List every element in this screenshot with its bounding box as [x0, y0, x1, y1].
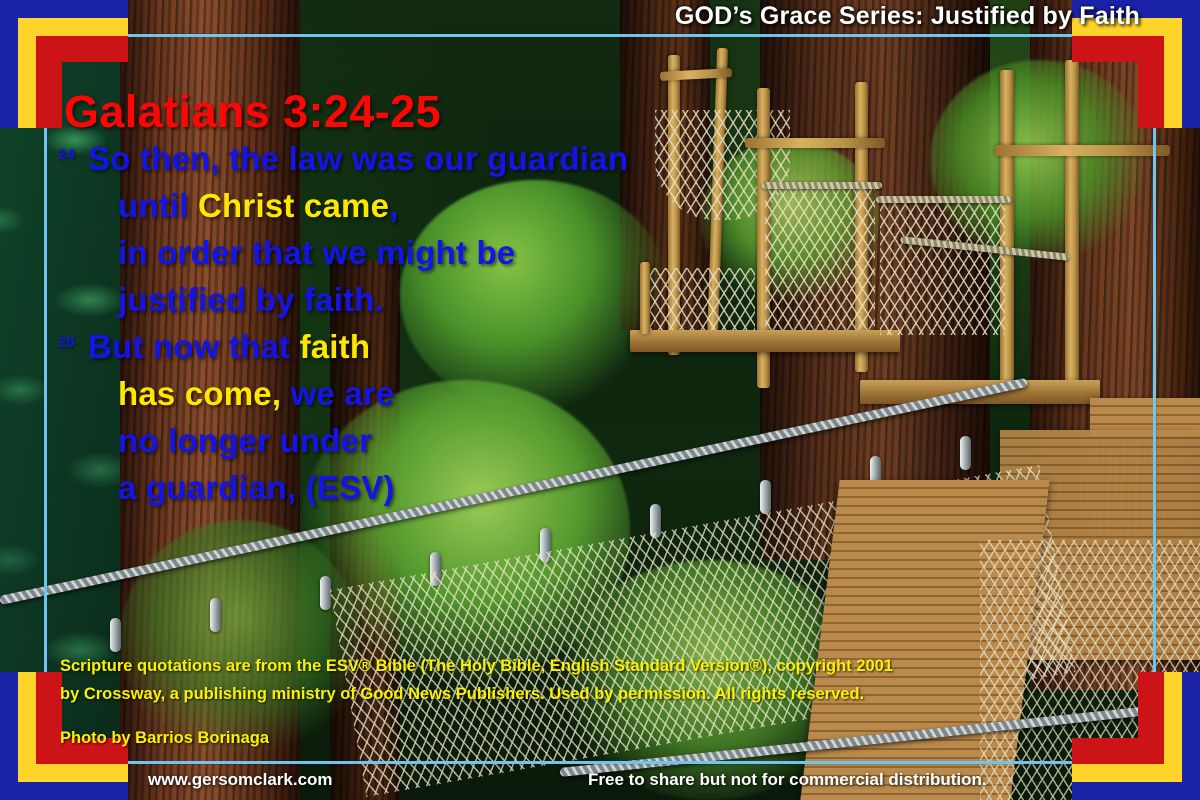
- verse-plain-text: But now that: [88, 328, 300, 365]
- footer-license: Free to share but not for commercial dis…: [588, 770, 987, 790]
- verse-plain-text: in order that we might be: [118, 234, 515, 271]
- verse-text: until Christ came,: [88, 187, 399, 225]
- verse-highlight-text: has come,: [118, 375, 281, 412]
- verse-plain-text: So then, the law was our guardian: [88, 140, 628, 177]
- verse-number-marker: 25: [58, 328, 88, 351]
- verse-plain-text: we are: [281, 375, 394, 412]
- verse-text: no longer under: [88, 422, 372, 460]
- verse-plain-text: no longer under: [118, 422, 372, 459]
- verse-text: But now that faith: [88, 328, 370, 366]
- cable-clip: [960, 436, 971, 470]
- credit-line-1: Scripture quotations are from the ESV® B…: [60, 657, 893, 675]
- verse-number-marker: [58, 234, 88, 240]
- verse-number-marker: [58, 281, 88, 287]
- verse-highlight-text: faith: [300, 328, 371, 365]
- cable-clip: [210, 598, 221, 632]
- verse-text: So then, the law was our guardian: [88, 140, 628, 178]
- verse-line: has come, we are: [58, 375, 758, 422]
- cable-clip: [110, 618, 121, 652]
- copyright-credit: Scripture quotations are from the ESV® B…: [60, 652, 1170, 752]
- verse-number-marker: [58, 422, 88, 428]
- photo-credit: Photo by Barrios Borinaga: [60, 724, 1170, 752]
- verse-number-marker: [58, 375, 88, 381]
- verse-number-marker: [58, 469, 88, 475]
- rope-net: [880, 200, 1005, 335]
- cable-clip: [760, 480, 771, 514]
- cable-clip: [320, 576, 331, 610]
- scripture-reference: Galatians 3:24-25: [64, 86, 441, 138]
- rope-rail: [762, 182, 882, 189]
- rope-net: [765, 188, 875, 338]
- verse-text: justified by faith.: [88, 281, 384, 319]
- verse-plain-text: until: [118, 187, 198, 224]
- verse-text: in order that we might be: [88, 234, 515, 272]
- verse-number-marker: [58, 187, 88, 193]
- verse-line: 24So then, the law was our guardian: [58, 140, 758, 187]
- verse-number-marker: 24: [58, 140, 88, 163]
- slide-canvas: GOD’s Grace Series: Justified by Faith G…: [0, 0, 1200, 800]
- wooden-crossbeam: [745, 138, 885, 148]
- verse-plain-text: ,: [389, 187, 398, 224]
- verse-highlight-text: Christ came: [198, 187, 389, 224]
- verse-text: a guardian, (ESV): [88, 469, 395, 507]
- verse-line: until Christ came,: [58, 187, 758, 234]
- verse-plain-text: justified by faith.: [118, 281, 384, 318]
- verse-plain-text: a guardian, (ESV): [118, 469, 395, 506]
- scripture-verse-block: 24So then, the law was our guardianuntil…: [58, 140, 758, 516]
- verse-line: no longer under: [58, 422, 758, 469]
- credit-line-2: by Crossway, a publishing ministry of Go…: [60, 685, 864, 703]
- series-title: GOD’s Grace Series: Justified by Faith: [675, 2, 1140, 31]
- verse-text: has come, we are: [88, 375, 395, 413]
- rope-rail: [876, 196, 1011, 203]
- verse-line: justified by faith.: [58, 281, 758, 328]
- wooden-crossbeam: [995, 145, 1170, 156]
- verse-line: a guardian, (ESV): [58, 469, 758, 516]
- footer-website[interactable]: www.gersomclark.com: [148, 770, 333, 790]
- verse-line: 25But now that faith: [58, 328, 758, 375]
- verse-line: in order that we might be: [58, 234, 758, 281]
